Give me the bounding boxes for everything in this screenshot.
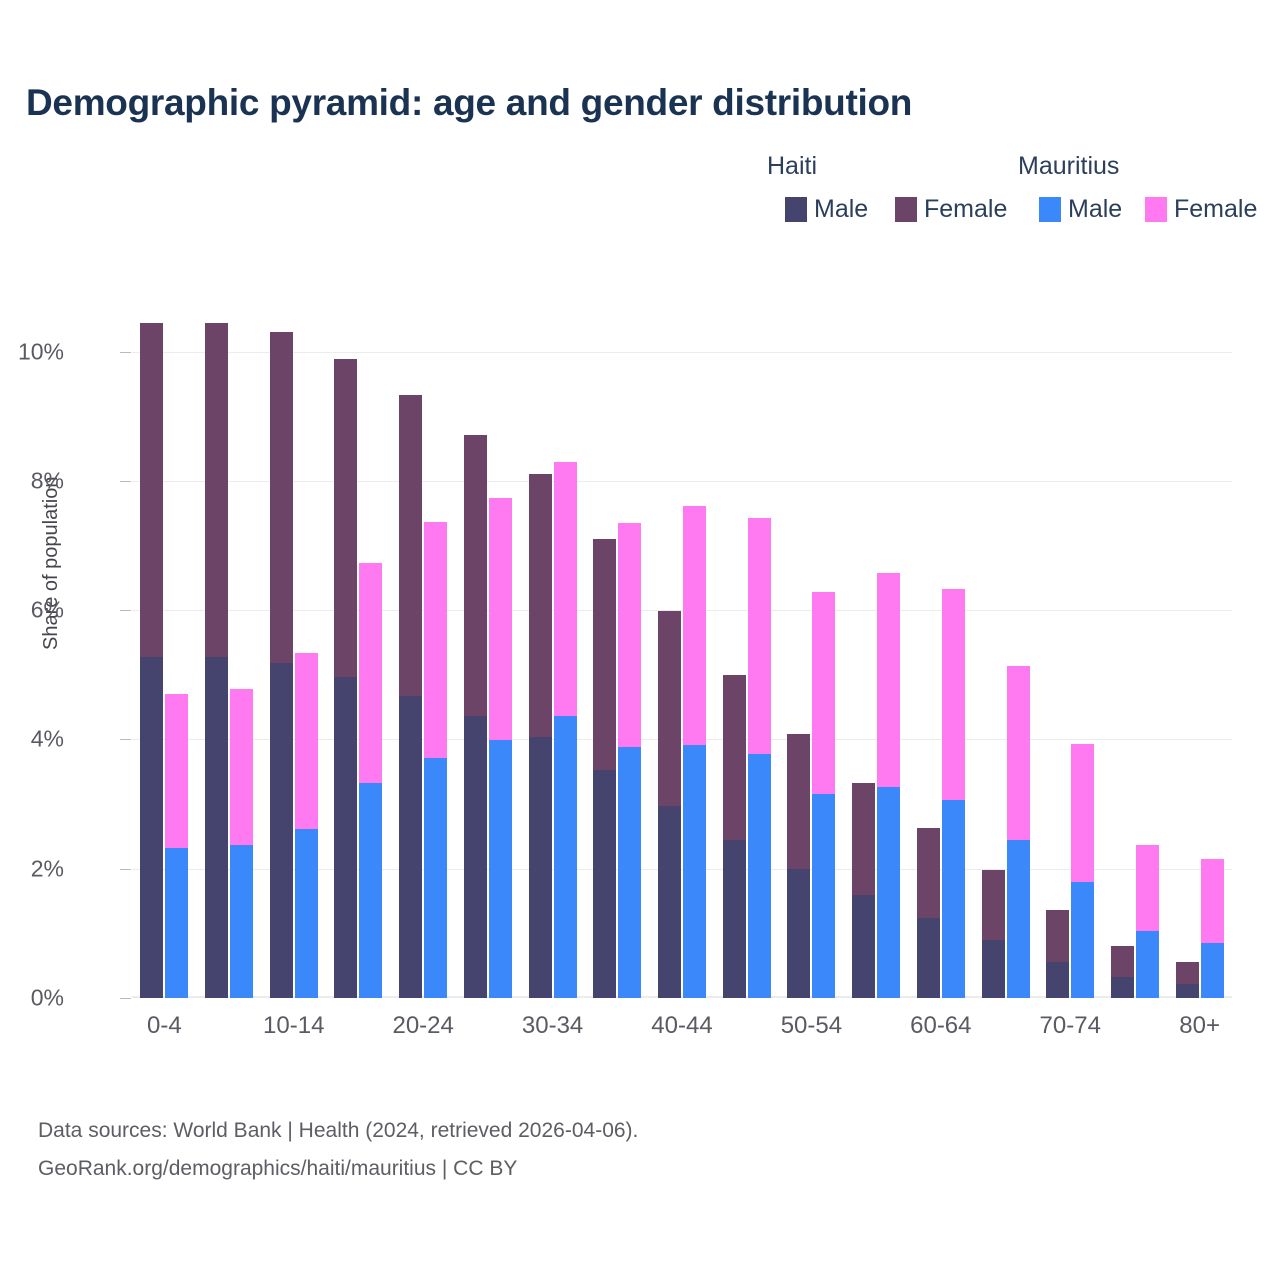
bar-segment-haiti-female[interactable] (205, 323, 228, 657)
bar-segment-haiti-male[interactable] (1176, 984, 1199, 998)
x-tick-label: 10-14 (263, 1012, 324, 1040)
legend-swatch-icon (1145, 197, 1167, 222)
bar-mauritius[interactable] (295, 653, 318, 998)
bar-mauritius[interactable] (230, 689, 253, 998)
bar-mauritius[interactable] (942, 589, 965, 998)
bar-segment-haiti-male[interactable] (787, 869, 810, 998)
footer-sources: Data sources: World Bank | Health (2024,… (38, 1112, 638, 1150)
bar-haiti[interactable] (270, 332, 293, 998)
bar-segment-mauritius-male[interactable] (1136, 931, 1159, 998)
bar-mauritius[interactable] (1136, 845, 1159, 998)
bar-mauritius[interactable] (554, 462, 577, 998)
bar-haiti[interactable] (787, 734, 810, 998)
bar-segment-mauritius-female[interactable] (230, 689, 253, 845)
bar-segment-mauritius-male[interactable] (618, 747, 641, 998)
bar-haiti[interactable] (1111, 946, 1134, 998)
bar-segment-mauritius-female[interactable] (295, 653, 318, 829)
bar-haiti[interactable] (723, 675, 746, 998)
bar-mauritius[interactable] (424, 522, 447, 998)
y-tick-mark (120, 869, 131, 870)
bar-group (1038, 300, 1103, 998)
bar-group (650, 300, 715, 998)
bar-group (585, 300, 650, 998)
bar-segment-haiti-female[interactable] (658, 611, 681, 806)
bar-segment-haiti-female[interactable] (982, 870, 1005, 940)
bar-segment-haiti-female[interactable] (140, 323, 163, 657)
bar-mauritius[interactable] (683, 506, 706, 998)
bar-group (844, 300, 909, 998)
bar-segment-haiti-female[interactable] (787, 734, 810, 869)
bar-segment-mauritius-female[interactable] (1201, 859, 1224, 943)
bar-segment-mauritius-male[interactable] (942, 800, 965, 998)
bar-segment-mauritius-male[interactable] (424, 758, 447, 998)
bar-segment-haiti-male[interactable] (464, 716, 487, 998)
y-tick-label: 4% (31, 726, 64, 753)
legend-group-mauritius: Mauritius (1018, 152, 1119, 181)
x-tick-label: 60-64 (910, 1012, 971, 1040)
bar-mauritius[interactable] (618, 523, 641, 998)
legend-swatch-icon (1039, 197, 1061, 222)
bar-segment-mauritius-female[interactable] (877, 573, 900, 788)
y-tick-label: 10% (18, 338, 64, 365)
bar-segment-haiti-male[interactable] (982, 940, 1005, 998)
bar-segment-haiti-male[interactable] (334, 677, 357, 998)
bar-haiti[interactable] (529, 474, 552, 998)
bar-haiti[interactable] (1046, 910, 1069, 998)
x-tick-label: 80+ (1179, 1012, 1220, 1040)
bar-segment-mauritius-female[interactable] (1136, 845, 1159, 932)
bar-segment-mauritius-male[interactable] (230, 845, 253, 998)
bar-mauritius[interactable] (165, 694, 188, 998)
bar-group (261, 300, 326, 998)
bar-segment-mauritius-female[interactable] (748, 518, 771, 754)
bar-haiti[interactable] (917, 828, 940, 998)
bar-segment-mauritius-female[interactable] (1007, 666, 1030, 840)
y-tick-mark (120, 739, 131, 740)
bar-group (973, 300, 1038, 998)
bar-segment-mauritius-female[interactable] (683, 506, 706, 745)
bar-mauritius[interactable] (1071, 744, 1094, 998)
bar-segment-mauritius-female[interactable] (942, 589, 965, 800)
bar-group (1103, 300, 1168, 998)
bar-segment-haiti-male[interactable] (270, 663, 293, 998)
legend-swatch-icon (895, 197, 917, 222)
bar-group (779, 300, 844, 998)
bar-mauritius[interactable] (812, 592, 835, 998)
bar-group (456, 300, 521, 998)
y-tick-mark (120, 481, 131, 482)
bar-segment-haiti-male[interactable] (1111, 977, 1134, 998)
bar-segment-mauritius-male[interactable] (812, 794, 835, 998)
bar-segment-haiti-male[interactable] (658, 806, 681, 998)
bar-segment-mauritius-male[interactable] (683, 745, 706, 998)
legend-item-label: Female (1174, 197, 1257, 222)
chart-footer: Data sources: World Bank | Health (2024,… (38, 1112, 638, 1188)
bar-haiti[interactable] (1176, 962, 1199, 998)
bar-segment-mauritius-female[interactable] (618, 523, 641, 747)
footer-attribution: GeoRank.org/demographics/haiti/mauritius… (38, 1150, 638, 1188)
plot-area: 0%2%4%6%8%10%0-410-1420-2430-3440-4450-5… (132, 300, 1232, 998)
bar-segment-haiti-male[interactable] (852, 895, 875, 998)
x-tick-label: 70-74 (1040, 1012, 1101, 1040)
y-axis-label: Share of population (40, 477, 63, 650)
bar-segment-haiti-female[interactable] (1176, 962, 1199, 983)
bar-segment-haiti-female[interactable] (1111, 946, 1134, 977)
bar-segment-haiti-male[interactable] (593, 770, 616, 998)
bar-segment-mauritius-male[interactable] (1007, 840, 1030, 998)
bar-segment-haiti-female[interactable] (464, 435, 487, 716)
legend-item-haiti-male[interactable]: Male (785, 197, 868, 222)
x-tick-label: 20-24 (392, 1012, 453, 1040)
x-tick-label: 50-54 (781, 1012, 842, 1040)
bar-mauritius[interactable] (489, 498, 512, 998)
bar-segment-haiti-female[interactable] (334, 359, 357, 677)
legend-item-mauritius-female[interactable]: Female (1145, 197, 1257, 222)
bar-segment-haiti-female[interactable] (593, 539, 616, 770)
bar-segment-haiti-male[interactable] (205, 657, 228, 998)
y-tick-label: 2% (31, 855, 64, 882)
bar-segment-haiti-male[interactable] (399, 696, 422, 998)
bar-group (197, 300, 262, 998)
bar-segment-mauritius-female[interactable] (812, 592, 835, 794)
bar-segment-mauritius-male[interactable] (554, 716, 577, 998)
bar-segment-haiti-female[interactable] (723, 675, 746, 840)
bar-segment-haiti-male[interactable] (917, 918, 940, 998)
x-tick-label: 40-44 (651, 1012, 712, 1040)
legend-item-label: Male (1068, 197, 1122, 222)
bar-segment-mauritius-male[interactable] (1201, 943, 1224, 998)
bar-segment-mauritius-male[interactable] (1071, 882, 1094, 998)
bar-segment-mauritius-male[interactable] (359, 783, 382, 998)
chart-title: Demographic pyramid: age and gender dist… (26, 82, 912, 124)
bar-segment-haiti-male[interactable] (529, 737, 552, 998)
y-tick-mark (120, 998, 131, 999)
legend-item-label: Male (814, 197, 868, 222)
y-tick-label: 6% (31, 597, 64, 624)
legend-item-label: Female (924, 197, 1007, 222)
bar-group (714, 300, 779, 998)
bar-haiti[interactable] (464, 435, 487, 998)
bar-group (326, 300, 391, 998)
legend-group-haiti: Haiti (767, 152, 817, 181)
bar-haiti[interactable] (852, 783, 875, 998)
legend-item-mauritius-male[interactable]: Male (1039, 197, 1122, 222)
bar-segment-mauritius-male[interactable] (748, 754, 771, 998)
y-tick-mark (120, 610, 131, 611)
bar-segment-haiti-female[interactable] (270, 332, 293, 663)
legend-item-haiti-female[interactable]: Female (895, 197, 1007, 222)
legend-swatch-icon (785, 197, 807, 222)
bar-haiti[interactable] (658, 611, 681, 998)
bar-mauritius[interactable] (748, 518, 771, 998)
bar-mauritius[interactable] (877, 573, 900, 998)
y-tick-mark (120, 352, 131, 353)
bar-segment-mauritius-female[interactable] (1071, 744, 1094, 882)
bar-group (391, 300, 456, 998)
chart-legend: Haiti Mauritius Male Female Male Female (760, 152, 1250, 238)
bar-segment-haiti-female[interactable] (917, 828, 940, 918)
bar-segment-mauritius-male[interactable] (877, 787, 900, 998)
bar-haiti[interactable] (334, 359, 357, 998)
x-tick-label: 0-4 (147, 1012, 182, 1040)
bar-group (908, 300, 973, 998)
bar-segment-haiti-male[interactable] (1046, 962, 1069, 998)
bar-segment-haiti-female[interactable] (1046, 910, 1069, 962)
bar-segment-mauritius-female[interactable] (424, 522, 447, 757)
bar-segment-haiti-male[interactable] (140, 657, 163, 998)
bar-group (1167, 300, 1232, 998)
bar-segment-mauritius-male[interactable] (489, 740, 512, 998)
bar-segment-haiti-male[interactable] (723, 840, 746, 998)
bar-segment-mauritius-female[interactable] (554, 462, 577, 716)
bar-segment-mauritius-male[interactable] (165, 848, 188, 998)
y-tick-label: 8% (31, 467, 64, 494)
x-tick-label: 30-34 (522, 1012, 583, 1040)
bar-mauritius[interactable] (1201, 859, 1224, 998)
bar-segment-haiti-female[interactable] (399, 395, 422, 696)
bar-haiti[interactable] (140, 323, 163, 998)
bar-group (520, 300, 585, 998)
bar-haiti[interactable] (205, 323, 228, 998)
bar-segment-haiti-female[interactable] (852, 783, 875, 895)
bar-mauritius[interactable] (359, 563, 382, 998)
y-tick-label: 0% (31, 985, 64, 1012)
bar-segment-haiti-female[interactable] (529, 474, 552, 737)
bar-haiti[interactable] (982, 870, 1005, 998)
bar-mauritius[interactable] (1007, 666, 1030, 998)
bar-segment-mauritius-female[interactable] (165, 694, 188, 848)
bar-haiti[interactable] (593, 538, 616, 998)
bar-haiti[interactable] (399, 395, 422, 998)
bar-segment-mauritius-male[interactable] (295, 829, 318, 998)
bar-segment-mauritius-female[interactable] (359, 563, 382, 783)
bar-segment-mauritius-female[interactable] (489, 498, 512, 740)
chart-container: Demographic pyramid: age and gender dist… (0, 0, 1280, 1280)
bar-group (132, 300, 197, 998)
